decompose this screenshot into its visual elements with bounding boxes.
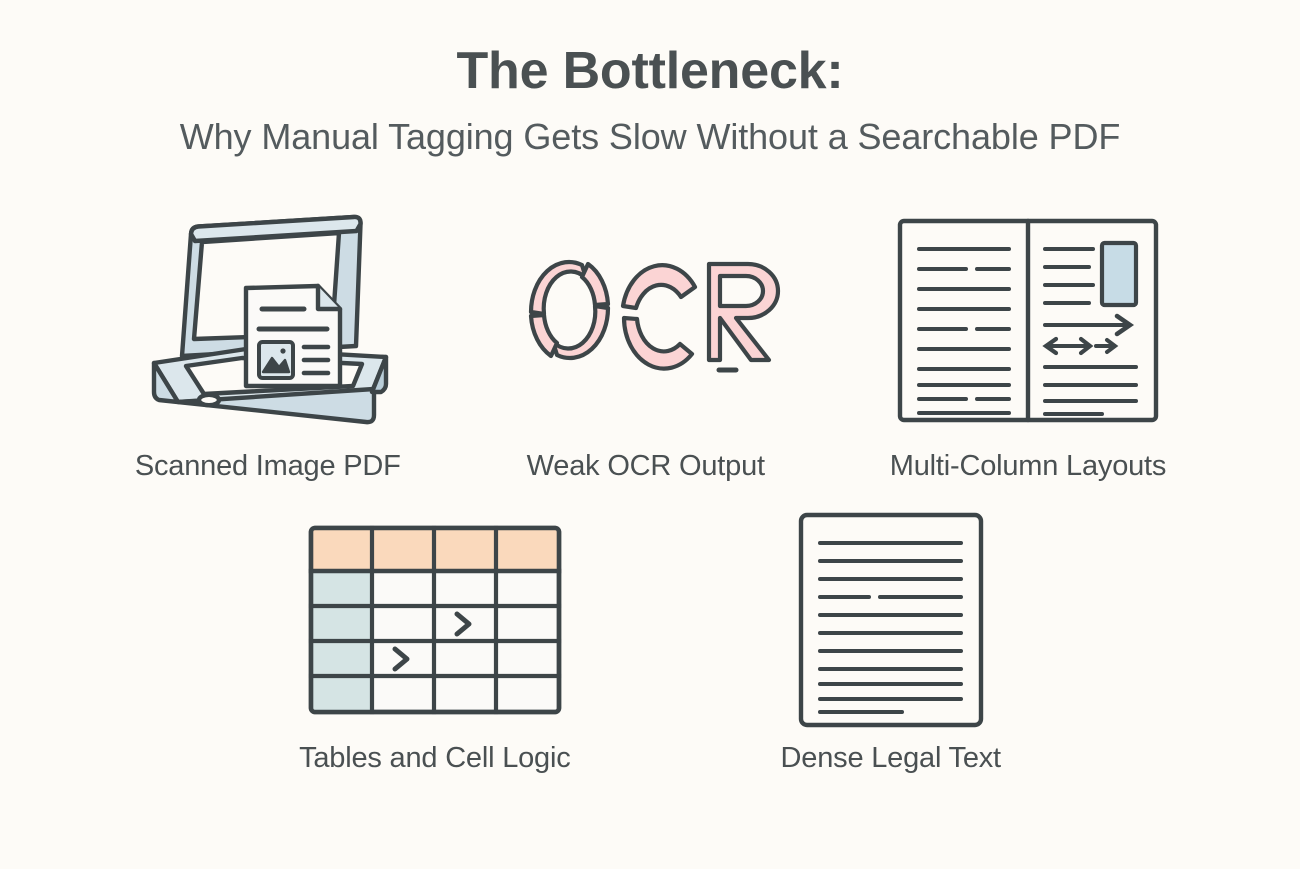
item-dense-legal-text: Dense Legal Text [781,520,1001,775]
item-label: Weak OCR Output [527,450,765,483]
header: The Bottleneck: Why Manual Tagging Gets … [0,44,1300,156]
item-multi-column-layouts: Multi-Column Layouts [890,206,1166,483]
item-scanned-image-pdf: Scanned Image PDF [134,206,402,483]
icon-row-bottom: Tables and Cell Logic [0,520,1300,775]
page-subtitle: Why Manual Tagging Gets Slow Without a S… [0,117,1300,157]
item-weak-ocr-output: Weak OCR Output [520,206,772,483]
item-label: Scanned Image PDF [135,450,401,483]
table-grid-icon [308,520,562,720]
icon-row-top: Scanned Image PDF [0,206,1300,483]
item-label: Multi-Column Layouts [890,450,1166,483]
text-document-icon [798,520,984,720]
item-label: Dense Legal Text [781,742,1001,775]
page-title: The Bottleneck: [0,44,1300,99]
flatbed-scanner-icon [134,206,402,434]
item-tables-and-cell-logic: Tables and Cell Logic [299,520,570,775]
infographic-canvas: The Bottleneck: Why Manual Tagging Gets … [0,0,1300,869]
item-label: Tables and Cell Logic [299,742,570,775]
two-column-page-icon [897,206,1159,434]
ocr-letters-icon [520,206,772,434]
